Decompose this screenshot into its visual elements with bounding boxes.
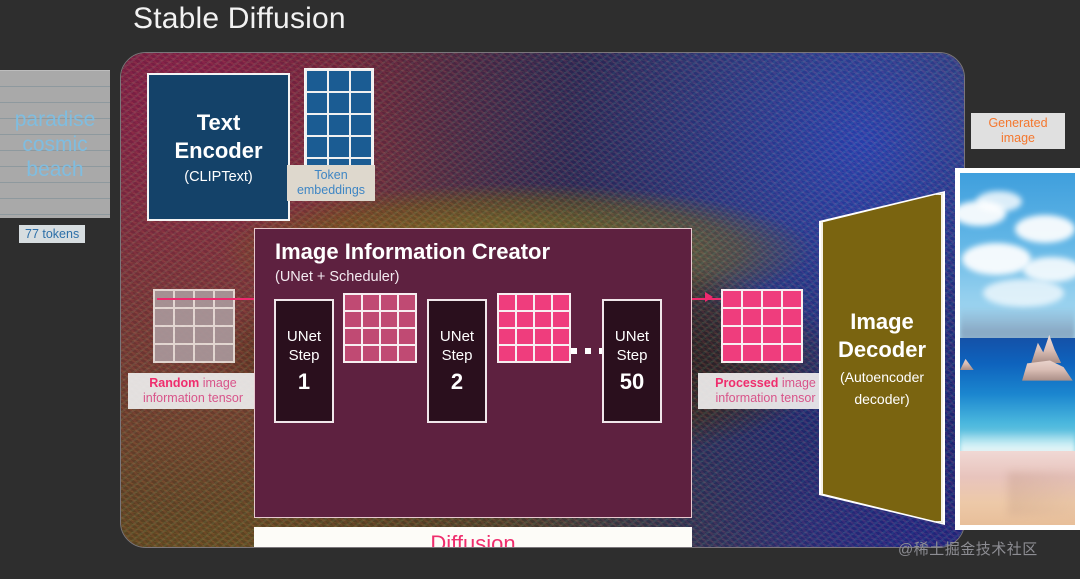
random-tensor-grid [153,289,235,363]
random-tensor-label-line2: information tensor [143,391,243,405]
diffusion-banner-label: Diffusion [430,531,515,548]
grid-cell [351,137,371,157]
grid-cell [381,295,397,310]
grid-cell [723,309,741,325]
text-encoder-subtitle: (CLIPText) [184,169,253,185]
prompt-line-3: beach [26,157,83,182]
grid-cell [363,346,379,361]
sand-layer [960,451,1075,525]
grid-cell [499,312,515,327]
cloud [976,191,1022,212]
random-tensor-label-strong: Random [149,376,199,390]
text-encoder-box: Text Encoder (CLIPText) [147,73,290,221]
grid-cell [215,327,233,343]
slide-root: Stable Diffusion paradise cosmic beach 7… [0,0,1080,579]
grid-cell [195,327,213,343]
grid-cell [363,329,379,344]
grid-cell [329,93,349,113]
text-encoder-line2: Encoder [174,137,262,165]
grid-cell [743,345,761,361]
grid-cell [351,115,371,135]
grid-cell [175,327,193,343]
iic-title: Image Information Creator [275,239,550,265]
image-decoder-line1: Image [850,308,914,336]
grid-cell [195,345,213,361]
grid-cell [517,295,533,310]
grid-cell [723,291,741,307]
unet-step-50-number: 50 [620,369,644,395]
grid-cell [517,312,533,327]
grid-cell [175,345,193,361]
grid-cell [155,309,173,325]
grid-cell [783,291,801,307]
latent-grid-after-step-1 [343,293,417,363]
unet-step-1-line1: UNet [287,327,321,346]
grid-cell [723,345,741,361]
grid-cell [351,71,371,91]
watermark: @稀土掘金技术社区 [898,538,1038,559]
grid-cell [535,295,551,310]
grid-cell [363,312,379,327]
unet-step-2-number: 2 [451,369,463,395]
grid-cell [783,309,801,325]
unet-step-50-line1: UNet [615,327,649,346]
grid-cell [351,93,371,113]
grid-cell [553,312,569,327]
grid-cell [783,345,801,361]
grid-cell [345,329,361,344]
generated-image-label-line2: image [1001,131,1035,145]
image-decoder-line2: Decoder [838,336,926,364]
dot [585,348,591,354]
grid-cell [517,346,533,361]
ellipsis-icon [571,348,605,354]
grid-cell [215,309,233,325]
grid-cell [399,329,415,344]
prompt-line-2: cosmic [22,132,87,157]
unet-step-50-line2: Step [617,346,648,365]
grid-cell [743,309,761,325]
unet-step-2-line1: UNet [440,327,474,346]
grid-cell [155,345,173,361]
processed-tensor-label-strong: Processed [715,376,778,390]
grid-cell [553,346,569,361]
page-title: Stable Diffusion [133,2,346,36]
prompt-text-block: paradise cosmic beach [0,70,110,218]
grid-cell [381,312,397,327]
grid-cell [155,327,173,343]
grid-cell [535,329,551,344]
random-tensor-label-rest: image [199,376,237,390]
grid-cell [499,346,515,361]
grid-cell [195,309,213,325]
text-encoder-line1: Text [197,109,241,137]
grid-cell [381,329,397,344]
grid-cell [763,327,781,343]
unet-step-1-number: 1 [298,369,310,395]
grid-cell [517,329,533,344]
generated-image-label-line1: Generated [988,116,1047,130]
cloud [962,243,1031,275]
grid-cell [553,329,569,344]
image-decoder-sub-line1: (Autoencoder [840,368,924,386]
diffusion-banner: Diffusion [254,527,692,548]
grid-cell [763,291,781,307]
unet-step-50-box: UNet Step 50 [602,299,662,423]
unet-step-2-line2: Step [442,346,473,365]
grid-cell [345,346,361,361]
token-embeddings-label-line1: Token [314,168,347,182]
token-embeddings-label-line2: embeddings [297,183,365,197]
unet-step-2-box: UNet Step 2 [427,299,487,423]
grid-cell [329,71,349,91]
processed-tensor-label-rest: image [778,376,816,390]
processed-tensor-label-line2: information tensor [715,391,815,405]
token-embeddings-label: Token embeddings [287,165,375,201]
grid-cell [363,295,379,310]
generated-image-frame [955,168,1080,530]
grid-cell [329,137,349,157]
grid-cell [723,327,741,343]
grid-cell [743,291,761,307]
grid-cell [381,346,397,361]
grid-cell [763,309,781,325]
iic-subtitle: (UNet + Scheduler) [275,269,400,285]
generated-image-label: Generated image [971,113,1065,149]
grid-cell [175,309,193,325]
processed-tensor-label: Processed image information tensor [698,373,833,409]
grid-cell [499,295,515,310]
prompt-line-1: paradise [15,107,96,132]
grid-cell [535,346,551,361]
unet-step-1-line2: Step [289,346,320,365]
image-information-creator-box: Image Information Creator (UNet + Schedu… [254,228,692,518]
random-tensor-label: Random image information tensor [128,373,258,409]
grid-cell [553,295,569,310]
grid-cell [345,312,361,327]
flow-arrow-icon [705,292,713,302]
dot [571,348,577,354]
grid-cell [307,115,327,135]
grid-cell [307,93,327,113]
grid-cell [329,115,349,135]
unet-step-1-box: UNet Step 1 [274,299,334,423]
diagram-stage: Text Encoder (CLIPText) Token embeddings… [120,52,965,548]
grid-cell [783,327,801,343]
processed-tensor-grid [721,289,803,363]
grid-cell [763,345,781,361]
grid-cell [743,327,761,343]
image-decoder-sub-line2: decoder) [854,390,909,408]
latent-grid-after-step-2 [497,293,571,363]
grid-cell [535,312,551,327]
grid-cell [215,345,233,361]
image-decoder-shape: Image Decoder (Autoencoder decoder) [821,193,943,523]
grid-cell [399,312,415,327]
tokens-count-badge: 77 tokens [19,225,85,243]
grid-cell [307,137,327,157]
grid-cell [307,71,327,91]
grid-cell [399,295,415,310]
grid-cell [345,295,361,310]
generated-image-beach-scene [960,173,1075,525]
grid-cell [499,329,515,344]
grid-cell [399,346,415,361]
cloud [983,279,1064,307]
